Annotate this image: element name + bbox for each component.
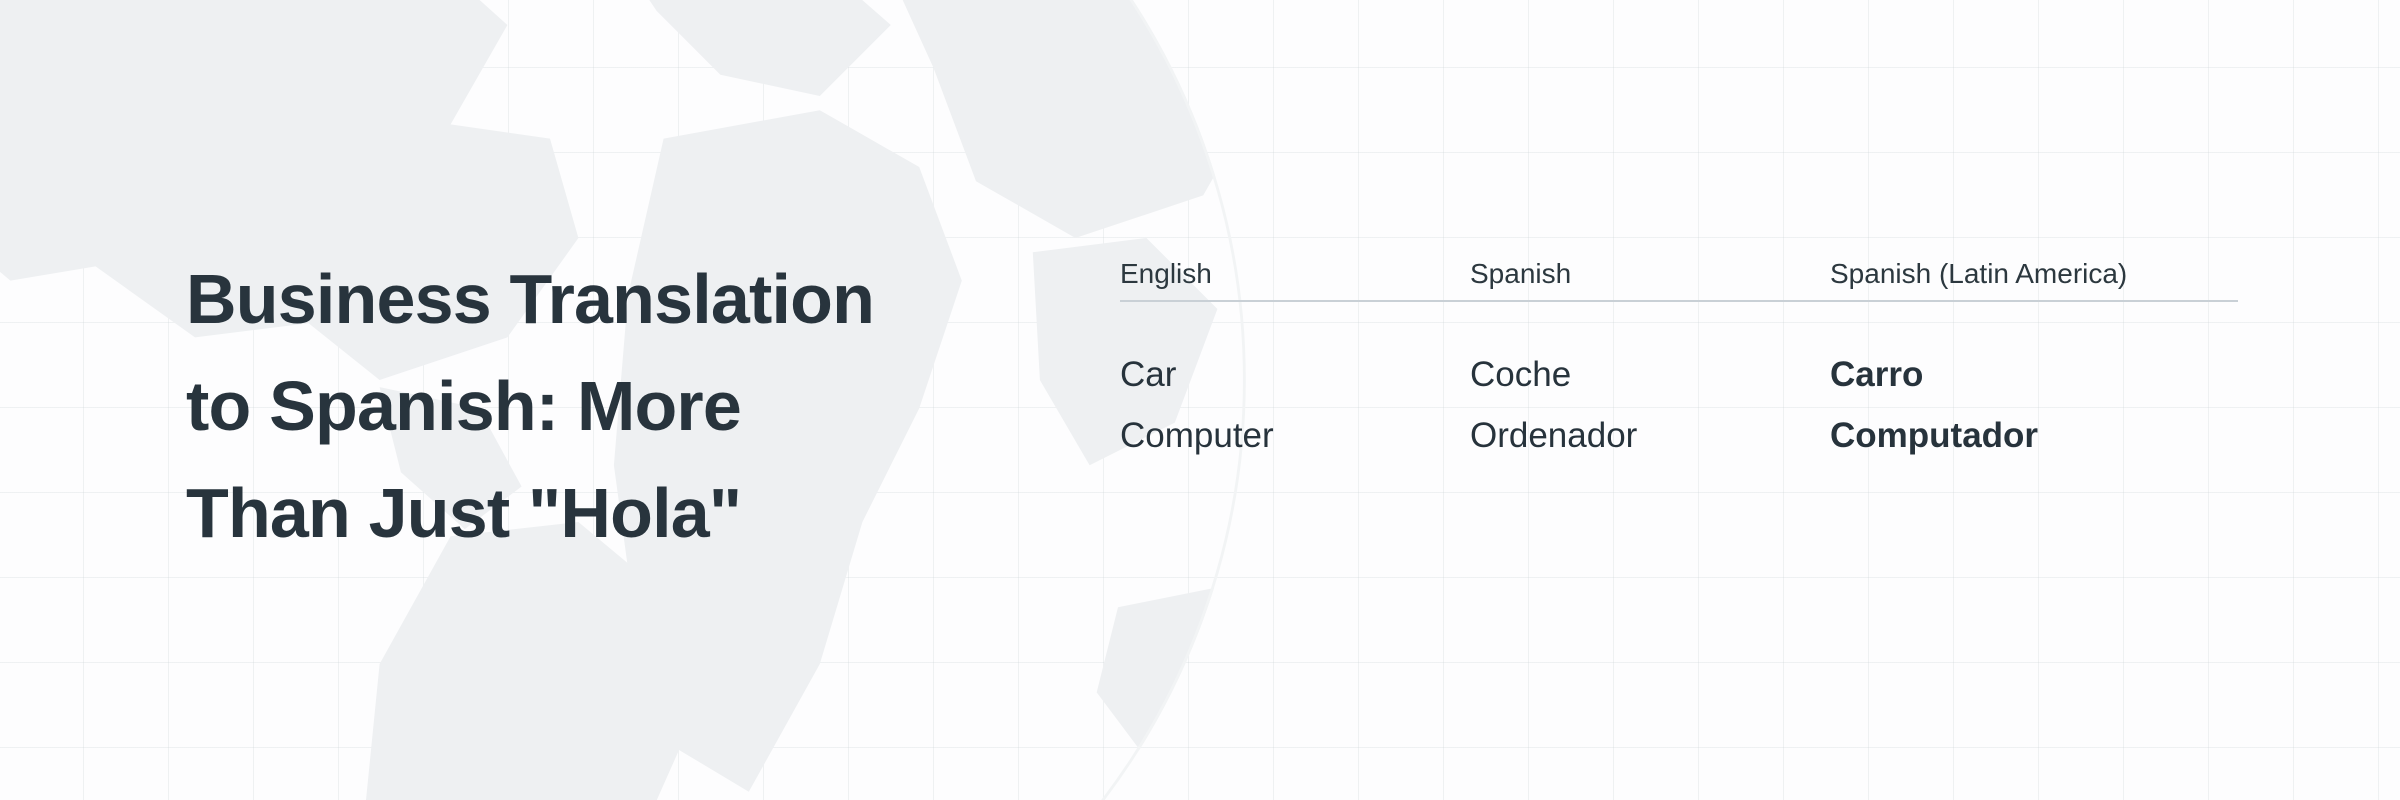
translation-glossary-table: English Spanish Spanish (Latin America) … xyxy=(1120,258,2280,466)
table-header-row: English Spanish Spanish (Latin America) xyxy=(1120,258,2238,301)
cell-english-car: Car xyxy=(1120,301,1470,405)
glossary-table-element: English Spanish Spanish (Latin America) … xyxy=(1120,258,2238,466)
slide-content: Business Translation to Spanish: More Th… xyxy=(0,0,2400,800)
column-header-english: English xyxy=(1120,258,1470,301)
column-header-spanish: Spanish xyxy=(1470,258,1830,301)
page-title: Business Translation to Spanish: More Th… xyxy=(186,246,1046,567)
table-row: Car Coche Carro xyxy=(1120,301,2238,405)
cell-spanish-latam-computador: Computador xyxy=(1830,405,2238,466)
cell-spanish-ordenador: Ordenador xyxy=(1470,405,1830,466)
cell-spanish-latam-carro: Carro xyxy=(1830,301,2238,405)
table-row: Computer Ordenador Computador xyxy=(1120,405,2238,466)
table-body: Car Coche Carro Computer Ordenador Compu… xyxy=(1120,301,2238,466)
column-header-spanish-latin-america: Spanish (Latin America) xyxy=(1830,258,2238,301)
cell-english-computer: Computer xyxy=(1120,405,1470,466)
cell-spanish-coche: Coche xyxy=(1470,301,1830,405)
table-header: English Spanish Spanish (Latin America) xyxy=(1120,258,2238,301)
